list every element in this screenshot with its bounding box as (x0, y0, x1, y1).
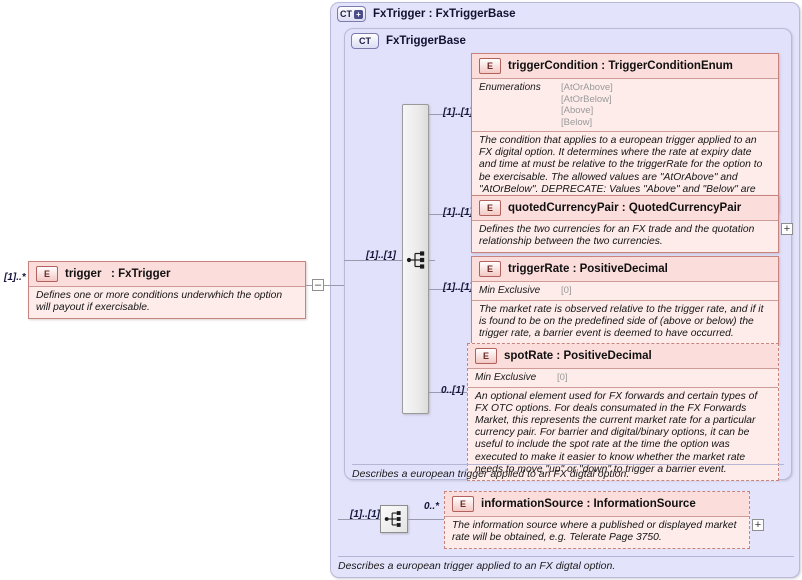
complex-type-badge-icon[interactable]: CT (351, 33, 379, 49)
expand-toggle-informationSource[interactable]: + (752, 519, 764, 531)
ct-badge-label: CT (340, 9, 352, 19)
element-description-informationSource: The information source where a published… (445, 516, 749, 548)
sequence-compositor-icon[interactable] (405, 248, 429, 272)
facet-values: [AtOrAbove] [AtOrBelow] [Above] [Below] (561, 82, 613, 128)
facet-values: [0] (561, 285, 572, 297)
element-title-quotedCurrencyPair: quotedCurrencyPair : QuotedCurrencyPair (508, 202, 741, 214)
facet-name: Min Exclusive (475, 372, 549, 384)
cardinality-trigger: [1]..* (4, 272, 26, 283)
complex-type-badge-icon[interactable]: CT+ (337, 6, 366, 22)
element-box-informationSource[interactable]: E informationSource : InformationSource … (444, 491, 750, 549)
facet-name: Enumerations (479, 82, 553, 128)
complex-type-header-fxtrigger[interactable]: CT+ FxTrigger : FxTriggerBase (337, 6, 516, 22)
element-badge-icon: E (36, 266, 58, 282)
element-title-triggerCondition: triggerCondition : TriggerConditionEnum (508, 60, 733, 72)
element-box-spotRate[interactable]: E spotRate : PositiveDecimal Min Exclusi… (467, 343, 779, 481)
connector-line (338, 519, 380, 520)
element-description-quotedCurrencyPair: Defines the two currencies for an FX tra… (472, 220, 778, 252)
element-badge-icon: E (475, 348, 497, 364)
cardinality-triggerRate: [1]..[1] (443, 282, 473, 293)
element-title-spotRate: spotRate : PositiveDecimal (504, 350, 652, 362)
connector-line (408, 519, 444, 520)
expand-plus-icon[interactable]: + (354, 10, 363, 19)
element-box-quotedCurrencyPair[interactable]: E quotedCurrencyPair : QuotedCurrencyPai… (471, 195, 779, 253)
element-header-informationSource: E informationSource : InformationSource (445, 492, 749, 516)
complex-type-title-fxtriggerbase: FxTriggerBase (386, 35, 466, 47)
element-description-trigger: Defines one or more conditions underwhic… (29, 286, 305, 318)
ct-badge-label: CT (359, 36, 371, 46)
element-header-spotRate: E spotRate : PositiveDecimal (468, 344, 778, 368)
inner-type-footer: Describes a european trigger applied to … (352, 464, 784, 480)
complex-type-header-fxtriggerbase[interactable]: CT FxTriggerBase (351, 33, 466, 49)
element-facets-triggerRate: Min Exclusive [0] (472, 281, 778, 300)
element-facets-spotRate: Min Exclusive [0] (468, 368, 778, 387)
connector-line (344, 260, 402, 261)
element-description-triggerRate: The market rate is observed relative to … (472, 300, 778, 345)
element-header-quotedCurrencyPair: E quotedCurrencyPair : QuotedCurrencyPai… (472, 196, 778, 220)
element-badge-icon: E (479, 261, 501, 277)
sequence-icon-glyph (383, 508, 405, 530)
element-header-trigger: E trigger : FxTrigger (29, 262, 305, 286)
cardinality-informationSource: 0..* (424, 501, 439, 512)
element-header-triggerRate: E triggerRate : PositiveDecimal (472, 257, 778, 281)
collapse-toggle-trigger[interactable]: – (312, 279, 324, 291)
cardinality-triggerCondition: [1]..[1] (443, 107, 473, 118)
connector-line (324, 285, 344, 286)
element-title-trigger: trigger : FxTrigger (65, 268, 170, 280)
element-title-informationSource: informationSource : InformationSource (481, 498, 696, 510)
sequence-icon-glyph (405, 248, 429, 272)
element-badge-icon: E (452, 496, 474, 512)
sequence-compositor-icon-2[interactable] (380, 505, 408, 533)
xsd-diagram-canvas: CT+ FxTrigger : FxTriggerBase CT FxTrigg… (0, 0, 802, 580)
complex-type-title-fxtrigger: FxTrigger : FxTriggerBase (373, 8, 516, 20)
cardinality-quotedCurrencyPair: [1]..[1] (443, 207, 473, 218)
outer-type-footer: Describes a european trigger applied to … (338, 556, 794, 572)
element-facets-triggerCondition: Enumerations [AtOrAbove] [AtOrBelow] [Ab… (472, 78, 778, 131)
element-box-triggerCondition[interactable]: E triggerCondition : TriggerConditionEnu… (471, 53, 779, 213)
cardinality-spotRate: 0..[1] (441, 385, 464, 396)
element-badge-icon: E (479, 58, 501, 74)
element-badge-icon: E (479, 200, 501, 216)
facet-values: [0] (557, 372, 568, 384)
element-box-triggerRate[interactable]: E triggerRate : PositiveDecimal Min Excl… (471, 256, 779, 345)
connector-line (429, 260, 435, 261)
element-header-triggerCondition: E triggerCondition : TriggerConditionEnu… (472, 54, 778, 78)
element-box-trigger[interactable]: E trigger : FxTrigger Defines one or mor… (28, 261, 306, 319)
expand-toggle-quotedCurrencyPair[interactable]: + (781, 223, 793, 235)
facet-name: Min Exclusive (479, 285, 553, 297)
element-title-triggerRate: triggerRate : PositiveDecimal (508, 263, 668, 275)
